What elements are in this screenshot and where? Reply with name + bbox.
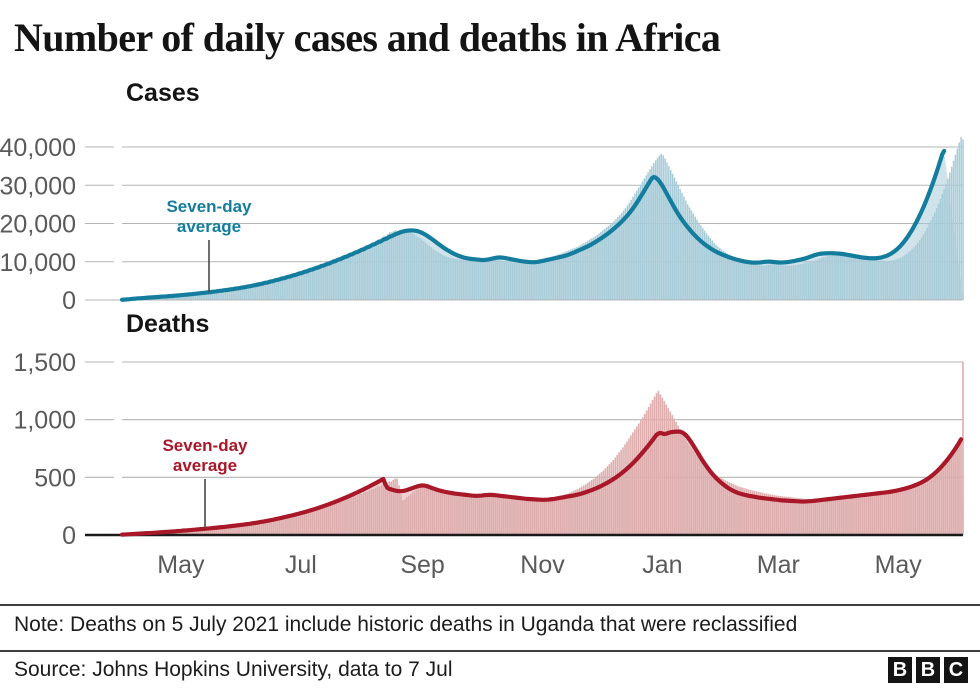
chart-figure: Number of daily cases and deaths in Afri… [0,0,980,689]
area-fill [122,432,963,535]
footer-source: Source: Johns Hopkins University, data t… [14,658,453,682]
bbc-logo: B B C [888,657,968,683]
footer-note: Note: Deaths on 5 July 2021 include hist… [14,613,797,637]
y-axis-tick-label: 0 [62,522,76,550]
x-axis-tick-label: Jul [285,551,317,579]
bbc-logo-letter-2: B [916,657,940,683]
bbc-logo-letter-3: C [944,657,968,683]
deaths-chart: 05001,0001,500Seven-dayaverageMayJulSepN… [0,0,980,689]
y-axis-tick-label: 1,000 [13,407,76,435]
x-axis-tick-label: Mar [757,551,800,579]
y-axis-tick-label: 500 [34,464,76,492]
footer-divider-top [0,604,980,606]
x-axis-tick-label: Jan [642,551,682,579]
seven-day-average-annotation-line1: Seven-day [162,436,248,455]
bbc-logo-letter-1: B [888,657,912,683]
footer-divider-bottom [0,650,980,652]
seven-day-average-annotation-line2: average [173,456,237,475]
x-axis-tick-label: Sep [400,551,444,579]
y-axis-tick-label: 1,500 [13,349,76,377]
x-axis-tick-label: May [157,551,205,579]
x-axis-tick-label: May [875,551,923,579]
x-axis-tick-label: Nov [520,551,565,579]
